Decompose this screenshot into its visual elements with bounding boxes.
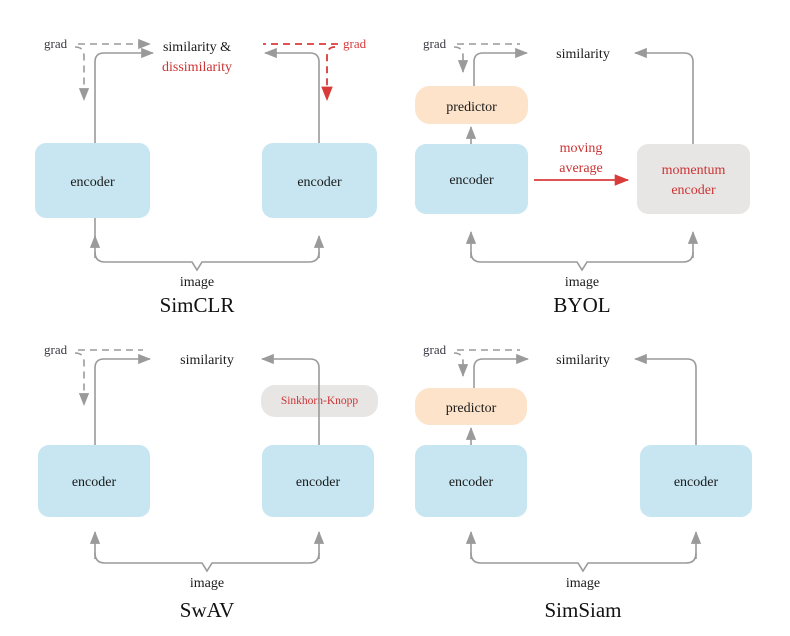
grad-path-right: [327, 47, 335, 100]
grad-path-left: [454, 47, 463, 72]
forward-path-left: [95, 53, 153, 143]
encoder-label-right: encoder: [674, 475, 719, 490]
grad-path-left: [454, 353, 463, 376]
panel-byol: encoder predictor grad similarity moment…: [395, 0, 790, 318]
grad-label-left: grad: [44, 342, 68, 357]
forward-path-right: [265, 53, 319, 143]
grad-path-left: [75, 47, 84, 100]
forward-path-right: [635, 53, 693, 144]
image-connector: [95, 252, 319, 270]
encoder-label-right: encoder: [297, 175, 342, 190]
objective-label: similarity: [556, 47, 610, 62]
objective-label-line1: similarity &: [163, 40, 231, 55]
panel-simsiam: encoder predictor encoder grad similarit…: [395, 318, 790, 636]
grad-label-right: grad: [343, 36, 367, 51]
encoder-label-left: encoder: [70, 175, 115, 190]
panel-title-byol: BYOL: [553, 293, 610, 317]
encoder-label-left: encoder: [72, 475, 117, 490]
panel-title-simsiam: SimSiam: [544, 598, 621, 622]
forward-path-right: [635, 359, 696, 445]
objective-label: similarity: [180, 353, 234, 368]
image-label: image: [565, 275, 599, 290]
image-connector: [471, 553, 696, 571]
objective-label: similarity: [556, 353, 610, 368]
predictor-label: predictor: [446, 100, 497, 115]
forward-path-left: [95, 359, 150, 445]
grad-label-left: grad: [44, 36, 68, 51]
forward-path-left: [474, 359, 528, 388]
grad-path-left: [75, 353, 84, 405]
panel-simclr: encoder encoder grad similarity & dissim…: [0, 0, 395, 318]
image-label: image: [566, 576, 600, 591]
image-label: image: [190, 576, 224, 591]
predictor-label: predictor: [446, 401, 497, 416]
grad-label-left: grad: [423, 36, 447, 51]
objective-label-line2: dissimilarity: [162, 60, 232, 75]
encoder-label-left: encoder: [449, 173, 494, 188]
moving-average-label-line2: average: [559, 161, 603, 176]
figure-canvas: encoder encoder grad similarity & dissim…: [0, 0, 790, 636]
panel-title-simclr: SimCLR: [160, 293, 235, 317]
momentum-encoder-box: [637, 144, 750, 214]
encoder-label-right: encoder: [296, 475, 341, 490]
image-connector: [95, 553, 319, 571]
moving-average-label-line1: moving: [560, 141, 603, 156]
panel-swav: encoder encoder Sinkhorn-Knopp grad simi…: [0, 318, 395, 636]
image-connector: [471, 252, 693, 270]
momentum-encoder-label-line1: momentum: [662, 163, 726, 178]
image-label: image: [180, 275, 214, 290]
encoder-label-left: encoder: [449, 475, 494, 490]
momentum-encoder-label-line2: encoder: [671, 183, 716, 198]
grad-label-left: grad: [423, 342, 447, 357]
panel-title-swav: SwAV: [180, 598, 234, 622]
forward-path-left: [474, 53, 527, 86]
